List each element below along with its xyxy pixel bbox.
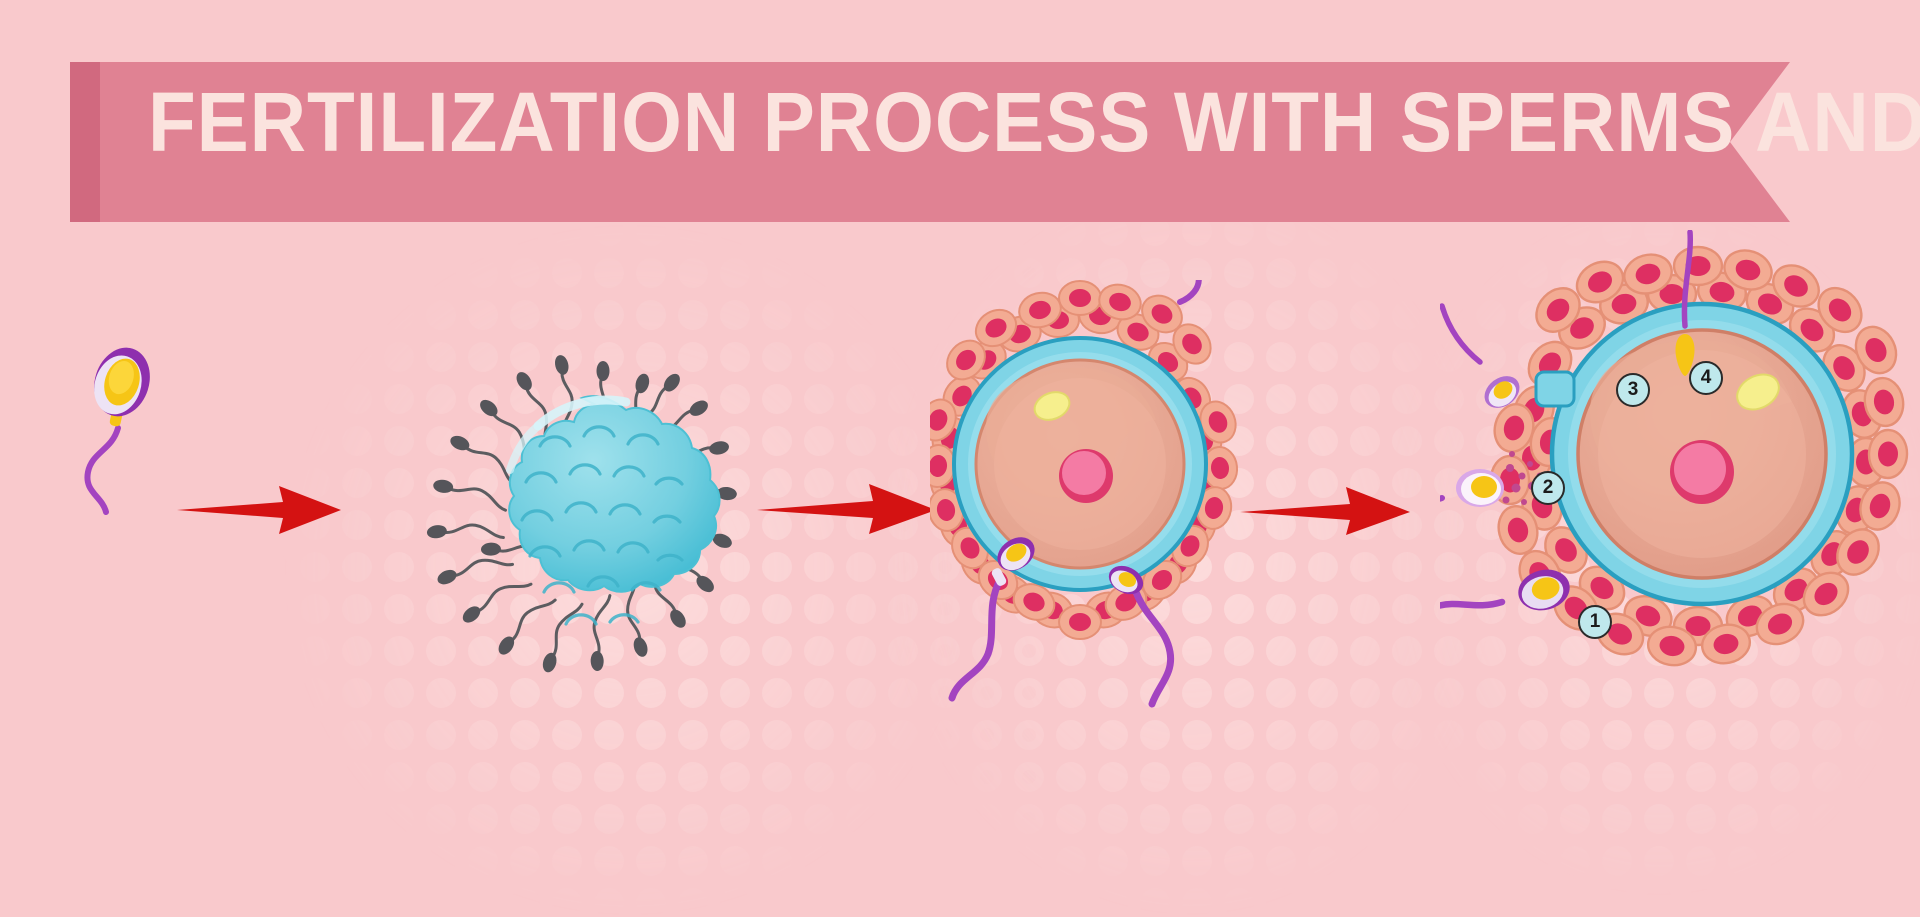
step-badge-1-label: 1 bbox=[1590, 611, 1601, 633]
sperm-head bbox=[86, 340, 159, 423]
process-arrow-2 bbox=[755, 478, 940, 540]
step-badge-3-label: 3 bbox=[1628, 379, 1639, 401]
step-badge-4[interactable]: 4 bbox=[1689, 361, 1723, 395]
morula-cluster bbox=[509, 396, 719, 624]
infographic-canvas: FERTILIZATION PROCESS WITH SPERMS AND EG… bbox=[0, 0, 1920, 917]
stage-1-sperm-cell bbox=[40, 320, 220, 550]
stage-4-fertilization-steps bbox=[1440, 230, 1920, 700]
step-badge-4-label: 4 bbox=[1701, 367, 1712, 389]
title-banner: FERTILIZATION PROCESS WITH SPERMS AND EG… bbox=[0, 0, 1920, 240]
sperm-tail bbox=[87, 428, 118, 512]
process-arrow-3 bbox=[1238, 482, 1413, 540]
step-badge-1[interactable]: 1 bbox=[1578, 605, 1612, 639]
stage-2-sperm-surrounding-ovum bbox=[330, 250, 760, 690]
step-badge-3[interactable]: 3 bbox=[1616, 373, 1650, 407]
step-badge-2-label: 2 bbox=[1543, 477, 1554, 499]
page-title: FERTILIZATION PROCESS WITH SPERMS AND EG… bbox=[148, 62, 1655, 182]
step-badge-2[interactable]: 2 bbox=[1531, 471, 1565, 505]
stage-3-sperm-reaching-egg bbox=[930, 280, 1250, 720]
